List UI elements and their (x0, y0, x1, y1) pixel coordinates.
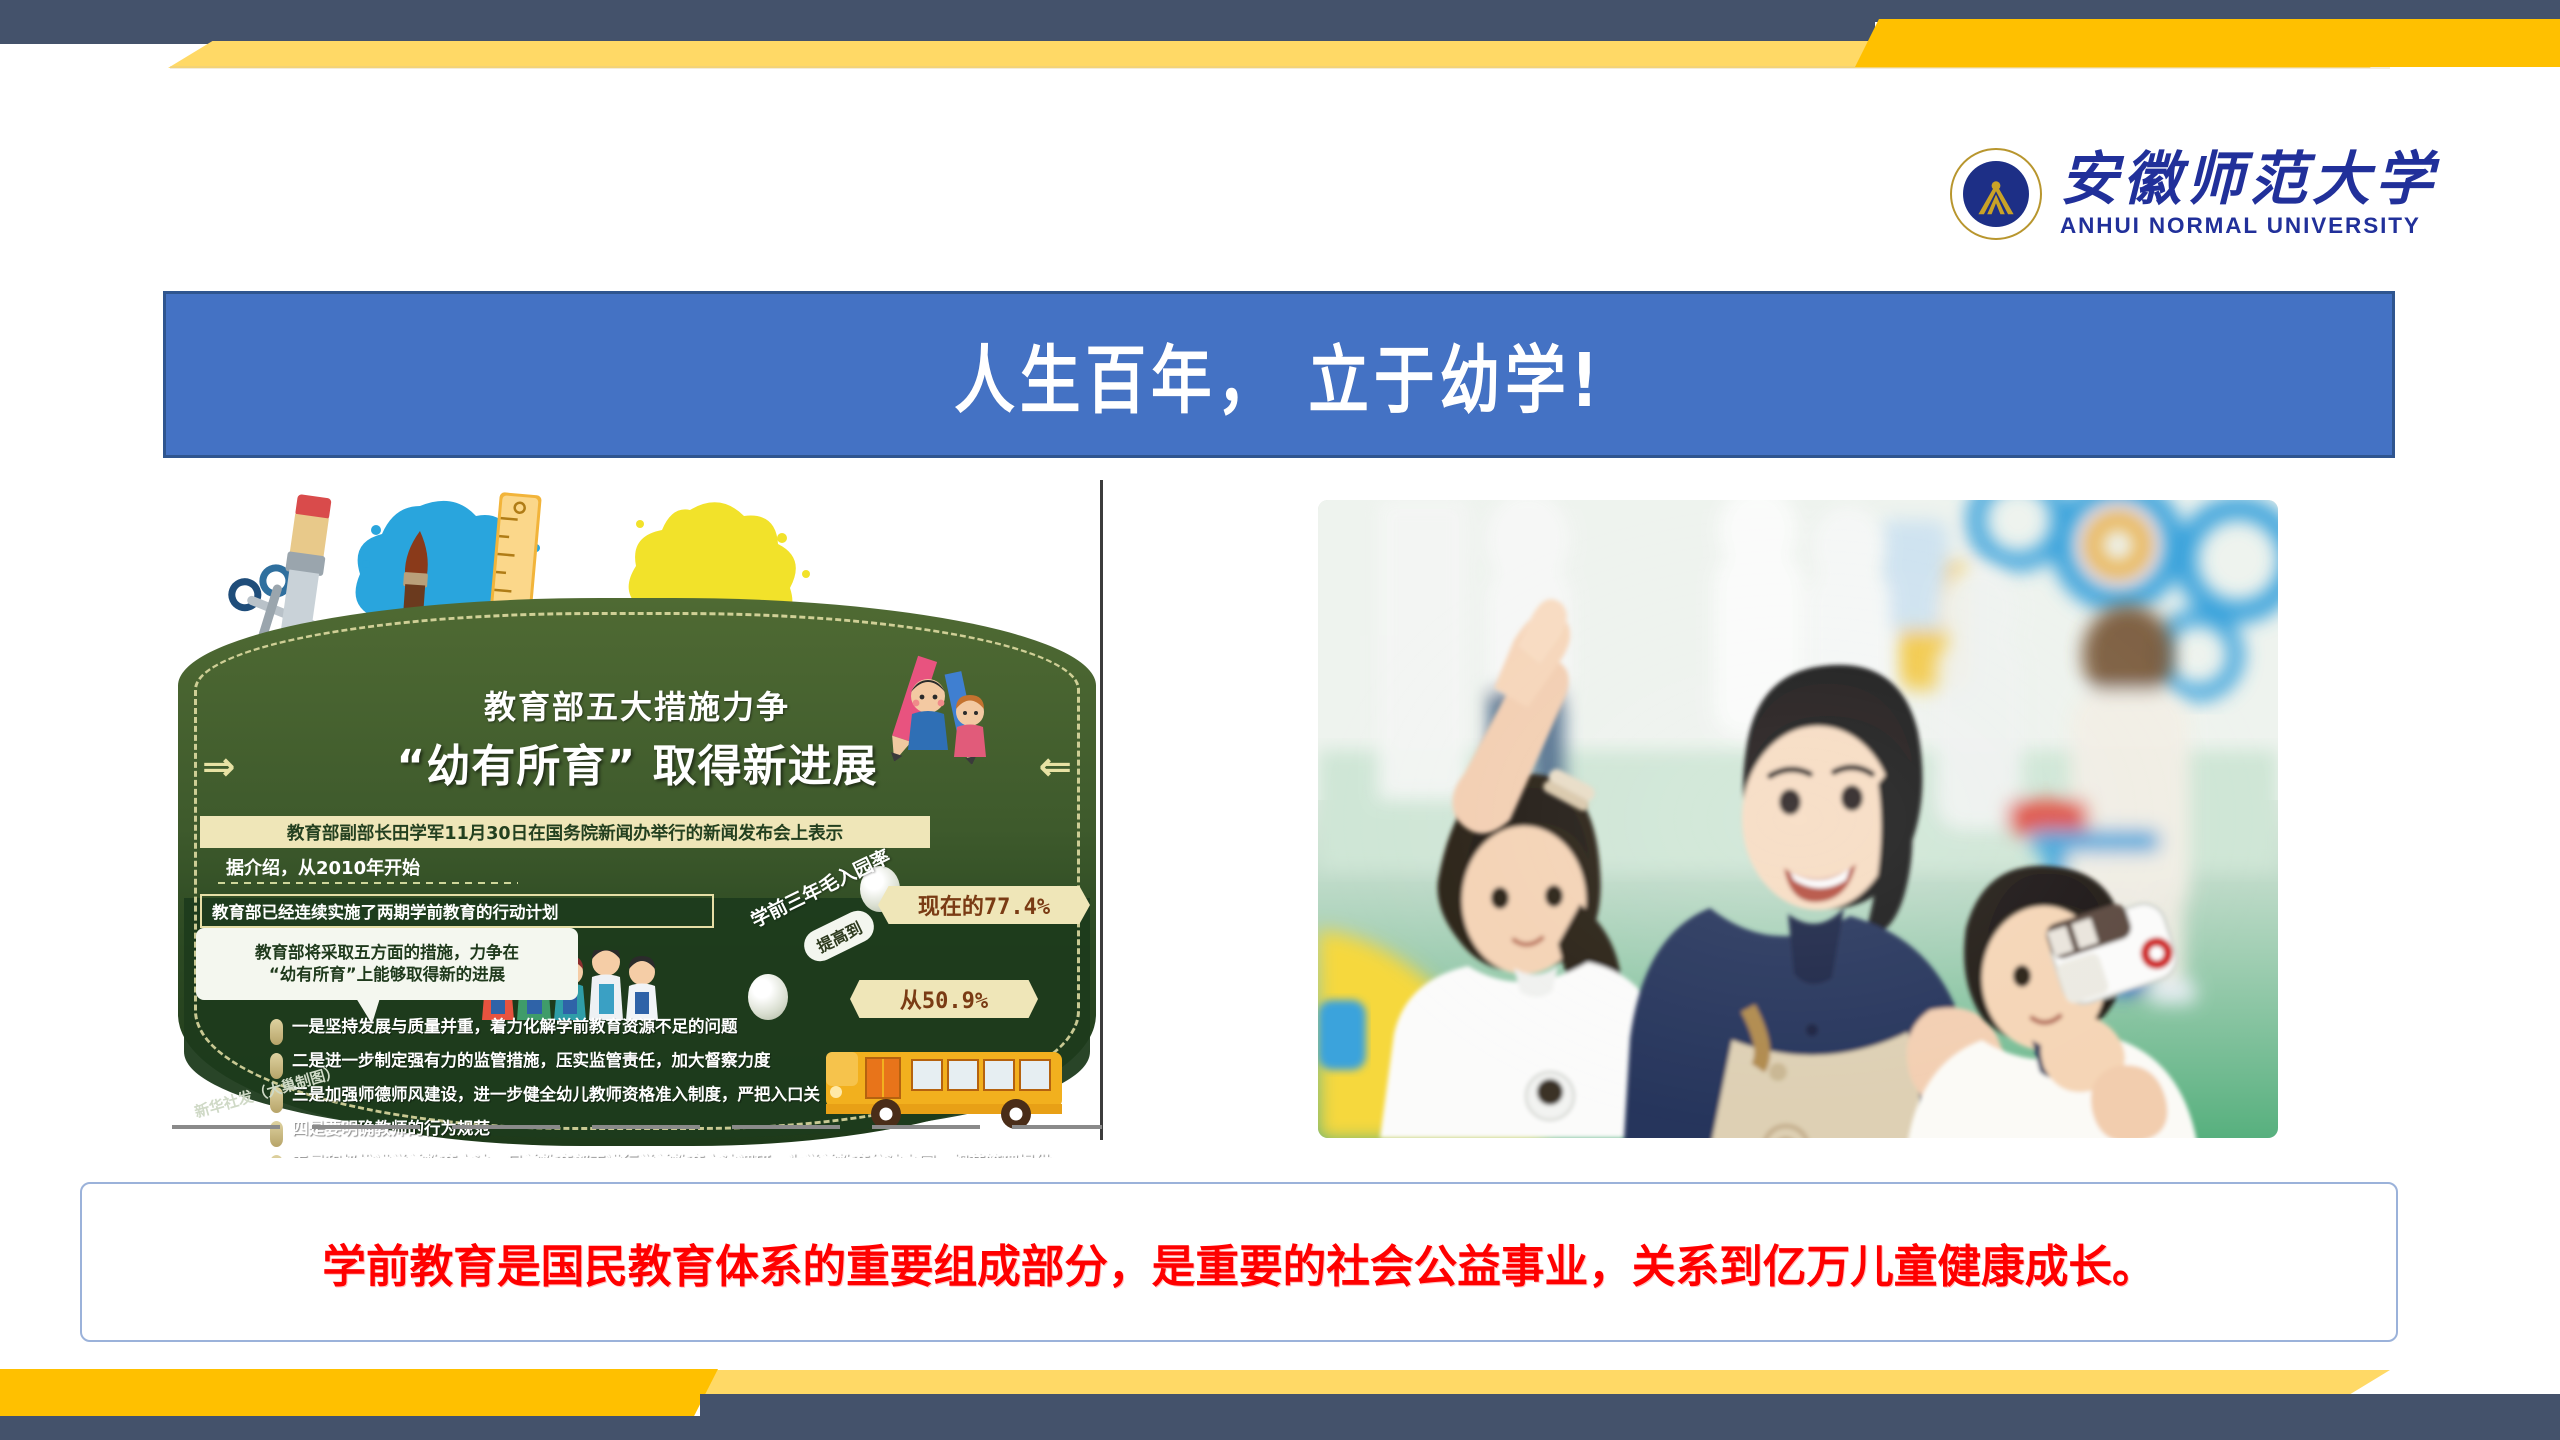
page-title: 人生百年， 立于幼学! (954, 321, 1603, 428)
infographic-lead-bar: 教育部副部长田学军11月30日在国务院新闻办举行的新闻发布会上表示 (200, 816, 930, 848)
measure-text: 一是坚持发展与质量并重，着力化解学前教育资源不足的问题 (292, 1016, 738, 1038)
infographic-lead-line2: 据介绍，从2010年开始 (226, 854, 420, 880)
measure-text: 五是积极推进学前教育立法，目前教育部正进行学前教育立法调研，为学前教育依法办园、… (292, 1152, 1062, 1158)
top-slate-bar-right (1855, 0, 2560, 22)
school-bus-icon (820, 1034, 1068, 1130)
infographic-lead-bar3: 教育部已经连续实施了两期学前教育的行动计划 (200, 894, 714, 928)
chalkboard-panel: ⇒ ⇐ 教育部五大措施力争 “幼有所育” 取得新进展 教育部副部长田学军11月3… (178, 598, 1096, 1146)
bottom-slate-bar (700, 1394, 2560, 1440)
infographic-bottom-dashed-line (172, 1125, 1102, 1129)
top-slate-bar (0, 0, 1875, 44)
infographic-right-edge-line (1100, 480, 1103, 1140)
bullet-icon (270, 1053, 283, 1079)
university-seal-icon (1950, 148, 2042, 240)
university-wordmark: 安徽师范大学 ANHUI NORMAL UNIVERSITY (2060, 150, 2438, 238)
rate-bead-bottom-icon (748, 974, 788, 1020)
list-item: 五是积极推进学前教育立法，目前教育部正进行学前教育立法调研，为学前教育依法办园、… (270, 1152, 1062, 1158)
seal-emblem-icon (1974, 176, 2018, 224)
measure-text: 三是加强师德师风建设，进一步健全幼儿教师资格准入制度，严把入口关 (292, 1084, 820, 1106)
infographic-image: ⇒ ⇐ 教育部五大措施力争 “幼有所育” 取得新进展 教育部副部长田学军11月3… (170, 478, 1105, 1158)
rate-current-value: 现在的77.4% (878, 886, 1090, 924)
bullet-icon (270, 1019, 283, 1045)
caption-box: 学前教育是国民教育体系的重要组成部分，是重要的社会公益事业，关系到亿万儿童健康成… (80, 1182, 2398, 1342)
callout-line1: 教育部将采取五方面的措施，力争在 (255, 942, 519, 964)
measure-text: 二是进一步制定强有力的监管措施，压实监管责任，加大督察力度 (292, 1050, 771, 1072)
rate-previous-value: 从50.9% (850, 980, 1038, 1018)
callout-line2: “幼有所育”上能够取得新的进展 (269, 964, 505, 986)
bottom-bright-yellow-bar (0, 1369, 718, 1417)
pencil-kids-icon (866, 654, 1006, 774)
bullet-icon (270, 1155, 283, 1158)
slide-title-banner: 人生百年， 立于幼学! (163, 291, 2395, 458)
infographic-lead-underline (218, 882, 518, 884)
university-name-en: ANHUI NORMAL UNIVERSITY (2060, 215, 2438, 238)
top-bright-yellow-bar (1855, 19, 2560, 67)
measure-text: 四是要明确教师的行为规范 (292, 1118, 490, 1140)
classroom-photo (1318, 500, 2278, 1138)
university-logo: 安徽师范大学 ANHUI NORMAL UNIVERSITY (1950, 148, 2438, 240)
university-name-cn: 安徽师范大学 (2060, 150, 2438, 208)
caption-text: 学前教育是国民教育体系的重要组成部分，是重要的社会公益事业，关系到亿万儿童健康成… (322, 1230, 2155, 1295)
bottom-slate-bar-left (0, 1416, 715, 1440)
infographic-callout: 教育部将采取五方面的措施，力争在 “幼有所育”上能够取得新的进展 (196, 928, 578, 1000)
